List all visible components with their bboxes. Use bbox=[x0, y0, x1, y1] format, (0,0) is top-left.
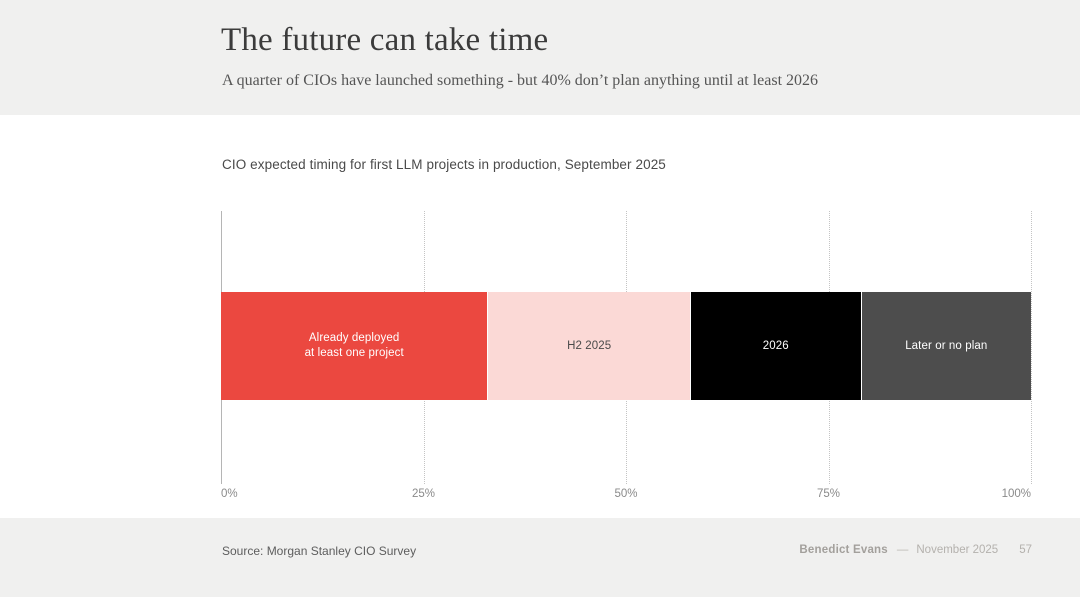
x-tick-100: 100% bbox=[1002, 488, 1031, 500]
bar-segment-label: 2026 bbox=[763, 339, 789, 354]
stacked-bar: Already deployed at least one project H2… bbox=[221, 292, 1031, 400]
x-tick-0: 0% bbox=[221, 488, 238, 500]
slide-footer: Source: Morgan Stanley CIO Survey Benedi… bbox=[0, 518, 1080, 597]
source-citation: Source: Morgan Stanley CIO Survey bbox=[222, 544, 416, 558]
page-title: The future can take time bbox=[221, 22, 548, 59]
page-subtitle: A quarter of CIOs have launched somethin… bbox=[222, 72, 818, 90]
bar-segment-already-deployed[interactable]: Already deployed at least one project bbox=[221, 292, 488, 400]
bar-segment-later-or-no-plan[interactable]: Later or no plan bbox=[862, 292, 1031, 400]
x-tick-50: 50% bbox=[614, 488, 637, 500]
footer-meta: Benedict Evans — November 2025 57 bbox=[799, 544, 1032, 556]
footer-author: Benedict Evans bbox=[799, 544, 887, 556]
gridline-100 bbox=[1031, 211, 1032, 484]
chart-subtitle: CIO expected timing for first LLM projec… bbox=[222, 157, 666, 172]
x-tick-75: 75% bbox=[817, 488, 840, 500]
page-number: 57 bbox=[1019, 544, 1032, 556]
stacked-bar-chart: Already deployed at least one project H2… bbox=[221, 211, 1031, 484]
slide-header: The future can take time A quarter of CI… bbox=[0, 0, 1080, 115]
bar-segment-label: Already deployed at least one project bbox=[305, 331, 404, 361]
bar-segment-2026[interactable]: 2026 bbox=[691, 292, 861, 400]
bar-segment-label: Later or no plan bbox=[905, 339, 987, 354]
footer-date: November 2025 bbox=[916, 544, 998, 556]
slide-body: CIO expected timing for first LLM projec… bbox=[0, 115, 1080, 518]
bar-segment-label: H2 2025 bbox=[567, 339, 611, 354]
x-tick-25: 25% bbox=[412, 488, 435, 500]
bar-segment-h2-2025[interactable]: H2 2025 bbox=[488, 292, 691, 400]
footer-separator: — bbox=[897, 544, 908, 556]
x-axis-tick-labels: 0% 25% 50% 75% 100% bbox=[221, 484, 1031, 504]
